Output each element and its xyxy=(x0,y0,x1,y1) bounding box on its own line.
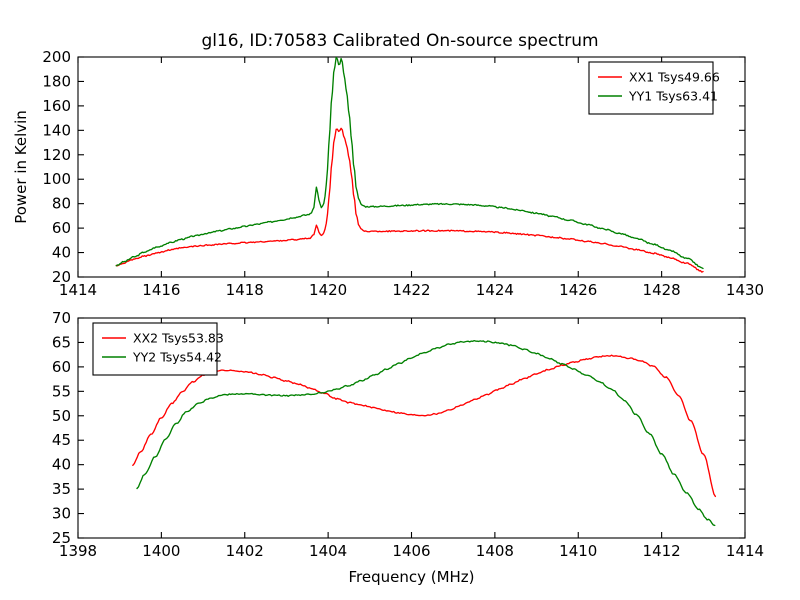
legend-label-yy1: YY1 Tsys63.41 xyxy=(628,89,718,104)
plot-svg: gl16, ID:70583 Calibrated On-source spec… xyxy=(0,0,800,600)
figure-canvas: gl16, ID:70583 Calibrated On-source spec… xyxy=(0,0,800,600)
x-tick-label-top: 1424 xyxy=(476,281,514,299)
y-tick-label-bottom: 40 xyxy=(52,456,71,474)
x-tick-label-top: 1428 xyxy=(643,281,681,299)
x-tick-label-top: 1430 xyxy=(726,281,764,299)
x-tick-label-bottom: 1400 xyxy=(142,542,180,560)
y-tick-label-top: 20 xyxy=(52,268,71,286)
y-tick-label-bottom: 60 xyxy=(52,358,71,376)
y-tick-label-bottom: 70 xyxy=(52,309,71,327)
y-tick-label-bottom: 30 xyxy=(52,505,71,523)
y-tick-label-top: 40 xyxy=(52,244,71,262)
legend-bottom: XX2 Tsys53.83YY2 Tsys54.42 xyxy=(93,323,224,375)
y-tick-label-top: 160 xyxy=(42,97,71,115)
x-tick-label-top: 1420 xyxy=(309,281,347,299)
x-tick-label-bottom: 1410 xyxy=(559,542,597,560)
y-tick-label-top: 140 xyxy=(42,121,71,139)
y-tick-label-top: 200 xyxy=(42,48,71,66)
y-tick-label-bottom: 65 xyxy=(52,333,71,351)
x-tick-label-top: 1426 xyxy=(559,281,597,299)
x-tick-label-bottom: 1412 xyxy=(643,542,681,560)
legend-top: XX1 Tsys49.66YY1 Tsys63.41 xyxy=(589,62,720,114)
page-title: gl16, ID:70583 Calibrated On-source spec… xyxy=(201,31,598,51)
x-tick-label-top: 1422 xyxy=(392,281,430,299)
y-tick-label-top: 60 xyxy=(52,219,71,237)
legend-label-yy2: YY2 Tsys54.42 xyxy=(132,350,222,365)
y-tick-label-bottom: 25 xyxy=(52,529,71,547)
legend-label-xx1: XX1 Tsys49.66 xyxy=(629,70,720,85)
x-tick-label-bottom: 1402 xyxy=(226,542,264,560)
y-axis-label-top: Power in Kelvin xyxy=(12,110,30,224)
x-axis-label-bottom: Frequency (MHz) xyxy=(348,568,474,586)
x-tick-label-bottom: 1406 xyxy=(392,542,430,560)
y-tick-label-bottom: 55 xyxy=(52,382,71,400)
x-tick-label-bottom: 1414 xyxy=(726,542,764,560)
x-tick-label-top: 1418 xyxy=(226,281,264,299)
x-tick-label-bottom: 1408 xyxy=(476,542,514,560)
x-tick-label-bottom: 1404 xyxy=(309,542,347,560)
x-tick-label-top: 1416 xyxy=(142,281,180,299)
y-tick-label-top: 180 xyxy=(42,72,71,90)
y-tick-label-bottom: 35 xyxy=(52,480,71,498)
y-tick-label-top: 100 xyxy=(42,170,71,188)
y-tick-label-top: 80 xyxy=(52,195,71,213)
legend-label-xx2: XX2 Tsys53.83 xyxy=(133,331,224,346)
y-tick-label-bottom: 50 xyxy=(52,407,71,425)
y-tick-label-bottom: 45 xyxy=(52,431,71,449)
y-tick-label-top: 120 xyxy=(42,146,71,164)
